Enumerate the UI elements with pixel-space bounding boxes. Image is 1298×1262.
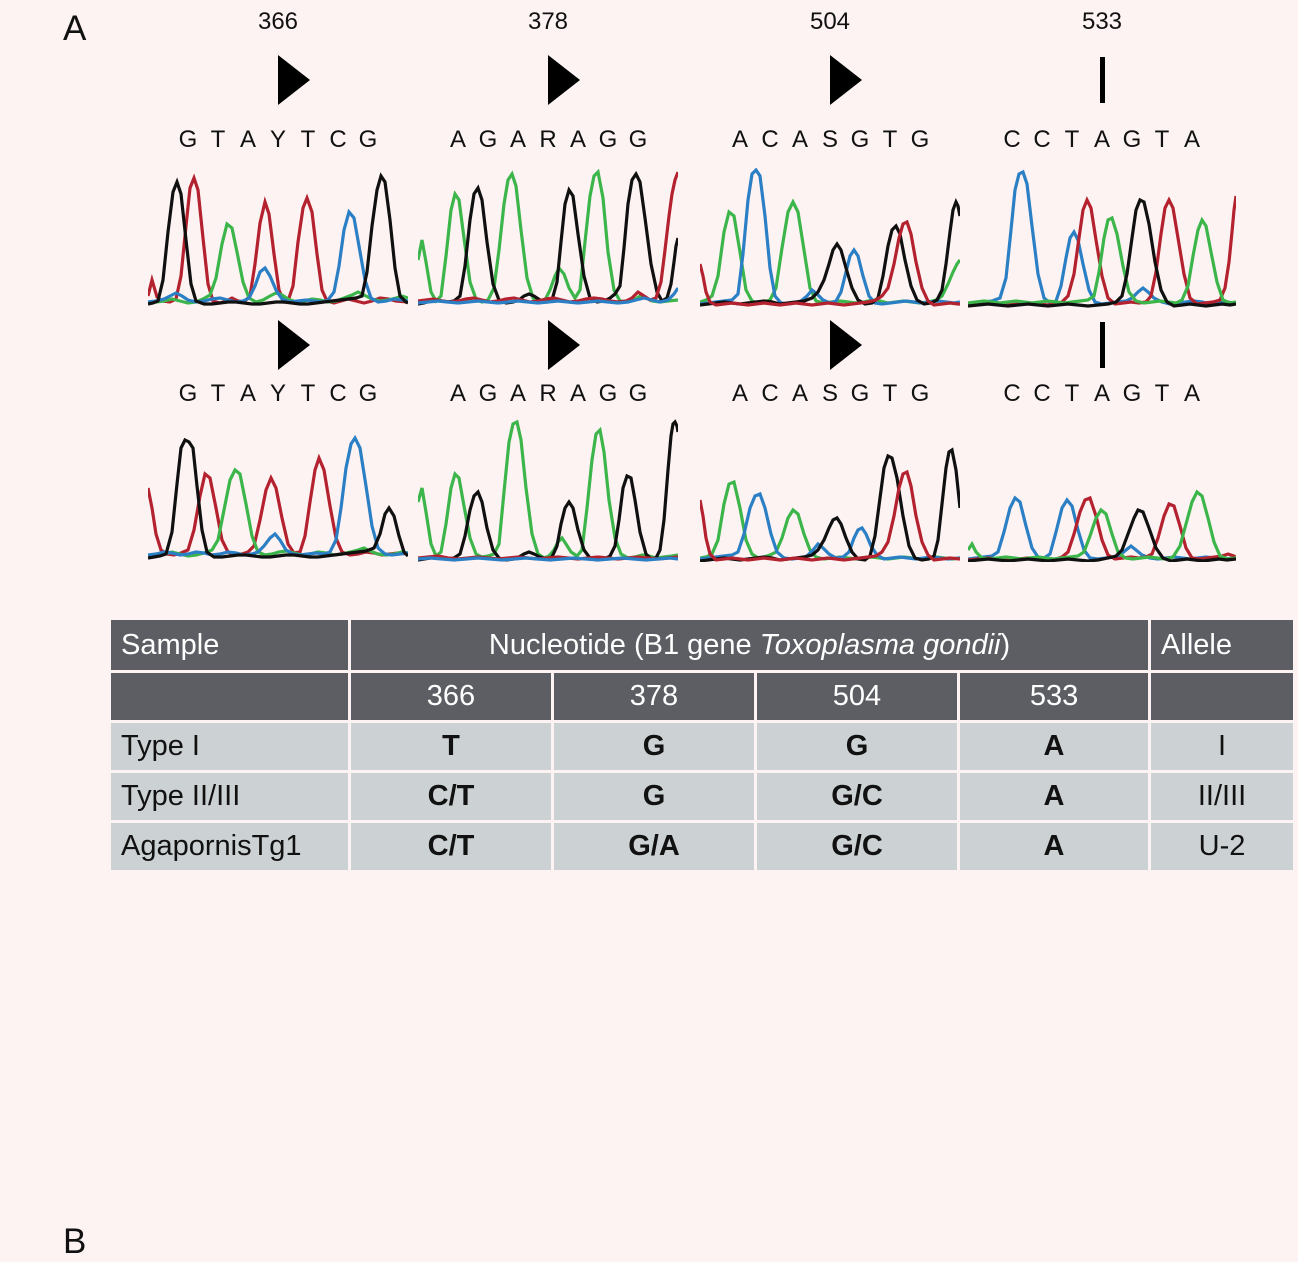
base-letter: A [1177, 382, 1207, 406]
header-allele: Allele [1151, 620, 1293, 670]
cell-allele: U-2 [1151, 823, 1293, 870]
base-letter: C [1027, 128, 1057, 152]
base-letter: T [203, 128, 233, 152]
cell-n366: C/T [351, 773, 551, 820]
base-letter: G [905, 128, 935, 152]
cell-n533: A [960, 723, 1148, 770]
chromatogram-column-504: 504 ACASGTG ACASGTG [700, 0, 960, 600]
marker-top-366 [148, 55, 408, 105]
header-blank-right [1151, 673, 1293, 720]
cell-n378: G [554, 723, 754, 770]
base-letter: G [845, 128, 875, 152]
header-nucleotide-prefix: Nucleotide (B1 gene [489, 629, 760, 661]
cell-allele: I [1151, 723, 1293, 770]
base-letter: A [725, 128, 755, 152]
position-label-366: 366 [148, 10, 408, 34]
table-row: Type II/III C/T G G/C A II/III [111, 773, 1293, 820]
base-letter: Y [263, 128, 293, 152]
base-letter: R [533, 128, 563, 152]
chromatogram-column-378: 378 AGARAGG AGARAGG [418, 0, 678, 600]
base-letter: C [323, 382, 353, 406]
header-nucleotide-species: Toxoplasma gondii [760, 629, 1001, 661]
trace-top-366 [148, 168, 408, 308]
base-letter: A [785, 382, 815, 406]
base-letter: A [563, 382, 593, 406]
sequence-top-378: AGARAGG [418, 128, 678, 152]
base-letter: G [593, 382, 623, 406]
base-letter: G [623, 128, 653, 152]
base-letter: T [1147, 128, 1177, 152]
trace-bottom-366 [148, 412, 408, 562]
base-letter: T [293, 128, 323, 152]
base-letter: A [233, 382, 263, 406]
sequence-top-504: ACASGTG [700, 128, 960, 152]
position-label-533: 533 [968, 10, 1236, 34]
trace-top-533 [968, 168, 1236, 308]
base-letter: G [473, 128, 503, 152]
panel-a-chromatograms: A 366 GTAYTCG GTAYTCG 378 AGARAGG [0, 0, 1298, 600]
header-blank-left [111, 673, 348, 720]
base-letter: C [755, 128, 785, 152]
marker-bottom-366 [148, 320, 408, 370]
base-letter: A [233, 128, 263, 152]
base-letter: C [755, 382, 785, 406]
trace-bottom-533 [968, 412, 1236, 562]
marker-top-378 [418, 55, 678, 105]
cell-n366: T [351, 723, 551, 770]
cell-n533: A [960, 773, 1148, 820]
panel-b-genotype-table: B Sample Nucleotide (B1 gene Toxoplasma … [0, 600, 1298, 884]
base-letter: S [815, 382, 845, 406]
base-letter: G [353, 128, 383, 152]
cell-n378: G [554, 773, 754, 820]
base-letter: Y [263, 382, 293, 406]
marker-bottom-378 [418, 320, 678, 370]
base-letter: A [1087, 128, 1117, 152]
base-letter: C [323, 128, 353, 152]
panel-a-label: A [63, 9, 86, 49]
header-position-366: 366 [351, 673, 551, 720]
base-letter: G [173, 382, 203, 406]
trace-top-378 [418, 168, 678, 308]
cell-sample: Type I [111, 723, 348, 770]
header-nucleotide-suffix: ) [1000, 629, 1010, 661]
table-row: AgapornisTg1 C/T G/A G/C A U-2 [111, 823, 1293, 870]
base-letter: G [623, 382, 653, 406]
cell-n378: G/A [554, 823, 754, 870]
marker-top-533 [968, 55, 1236, 105]
base-letter: T [875, 128, 905, 152]
base-letter: G [1117, 128, 1147, 152]
base-letter: G [593, 128, 623, 152]
header-nucleotide: Nucleotide (B1 gene Toxoplasma gondii) [351, 620, 1148, 670]
base-letter: A [1087, 382, 1117, 406]
base-letter: A [725, 382, 755, 406]
base-letter: A [443, 382, 473, 406]
header-position-504: 504 [757, 673, 957, 720]
cell-sample: AgapornisTg1 [111, 823, 348, 870]
cell-n366: C/T [351, 823, 551, 870]
position-label-378: 378 [418, 10, 678, 34]
base-letter: A [443, 128, 473, 152]
cell-allele: II/III [1151, 773, 1293, 820]
sequence-bottom-504: ACASGTG [700, 382, 960, 406]
panel-b-label: B [63, 1222, 86, 1262]
trace-bottom-378 [418, 412, 678, 562]
base-letter: A [503, 128, 533, 152]
base-letter: T [203, 382, 233, 406]
base-letter: G [473, 382, 503, 406]
sequence-top-366: GTAYTCG [148, 128, 408, 152]
marker-bottom-504 [700, 320, 960, 370]
table-header-row-top: Sample Nucleotide (B1 gene Toxoplasma go… [111, 620, 1293, 670]
base-letter: T [1057, 128, 1087, 152]
cell-n533: A [960, 823, 1148, 870]
base-letter: T [1057, 382, 1087, 406]
header-position-533: 533 [960, 673, 1148, 720]
trace-bottom-504 [700, 412, 960, 562]
table-header-row-positions: 366 378 504 533 [111, 673, 1293, 720]
base-letter: A [1177, 128, 1207, 152]
chromatogram-column-533: 533 CCTAGTA CCTAGTA [968, 0, 1236, 600]
base-letter: G [905, 382, 935, 406]
cell-sample: Type II/III [111, 773, 348, 820]
base-letter: C [1027, 382, 1057, 406]
base-letter: A [563, 128, 593, 152]
genotype-table: Sample Nucleotide (B1 gene Toxoplasma go… [108, 617, 1296, 873]
base-letter: A [503, 382, 533, 406]
header-position-378: 378 [554, 673, 754, 720]
base-letter: T [293, 382, 323, 406]
sequence-bottom-366: GTAYTCG [148, 382, 408, 406]
position-label-504: 504 [700, 10, 960, 34]
base-letter: G [845, 382, 875, 406]
cell-n504: G [757, 723, 957, 770]
sequence-bottom-378: AGARAGG [418, 382, 678, 406]
base-letter: A [785, 128, 815, 152]
cell-n504: G/C [757, 773, 957, 820]
chromatogram-column-366: 366 GTAYTCG GTAYTCG [148, 0, 408, 600]
header-sample: Sample [111, 620, 348, 670]
base-letter: R [533, 382, 563, 406]
marker-bottom-533 [968, 320, 1236, 370]
base-letter: G [1117, 382, 1147, 406]
base-letter: S [815, 128, 845, 152]
trace-top-504 [700, 168, 960, 308]
base-letter: T [875, 382, 905, 406]
base-letter: C [997, 128, 1027, 152]
marker-top-504 [700, 55, 960, 105]
sequence-bottom-533: CCTAGTA [968, 382, 1236, 406]
sequence-top-533: CCTAGTA [968, 128, 1236, 152]
base-letter: G [173, 128, 203, 152]
table-row: Type I T G G A I [111, 723, 1293, 770]
base-letter: C [997, 382, 1027, 406]
base-letter: G [353, 382, 383, 406]
base-letter: T [1147, 382, 1177, 406]
cell-n504: G/C [757, 823, 957, 870]
